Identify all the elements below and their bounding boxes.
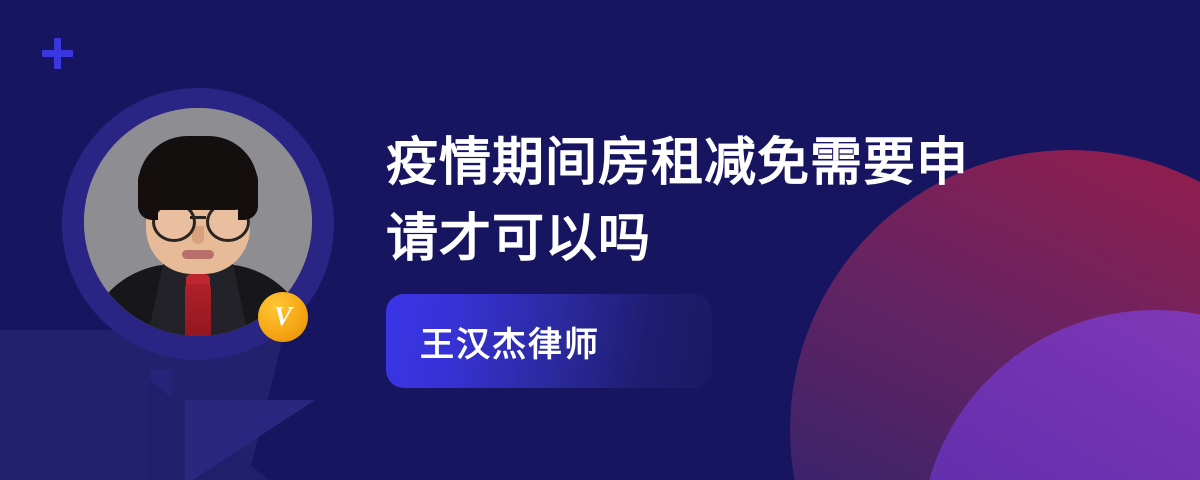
portrait-hair-left: [138, 168, 158, 220]
avatar[interactable]: V: [62, 88, 334, 360]
verified-v-icon: V: [258, 292, 308, 342]
portrait-tie: [185, 284, 211, 336]
portrait-glasses-bridge: [190, 216, 206, 219]
decor-triangle: [185, 400, 315, 480]
lawyer-name-badge[interactable]: 王汉杰律师: [386, 294, 712, 388]
verified-v-mark: V: [274, 303, 292, 330]
page-title: 疫情期间房租减免需要申 请才可以吗: [386, 126, 1086, 278]
plus-icon-bar-vertical: [54, 38, 61, 69]
portrait-mouth: [182, 250, 214, 259]
portrait-hair-right: [238, 168, 258, 220]
lawyer-name-label: 王汉杰律师: [386, 317, 600, 366]
plus-icon: [42, 38, 73, 69]
lawyer-qa-banner: V 疫情期间房租减免需要申 请才可以吗 王汉杰律师: [0, 0, 1200, 480]
headline-block: 疫情期间房租减免需要申 请才可以吗: [386, 126, 1086, 278]
